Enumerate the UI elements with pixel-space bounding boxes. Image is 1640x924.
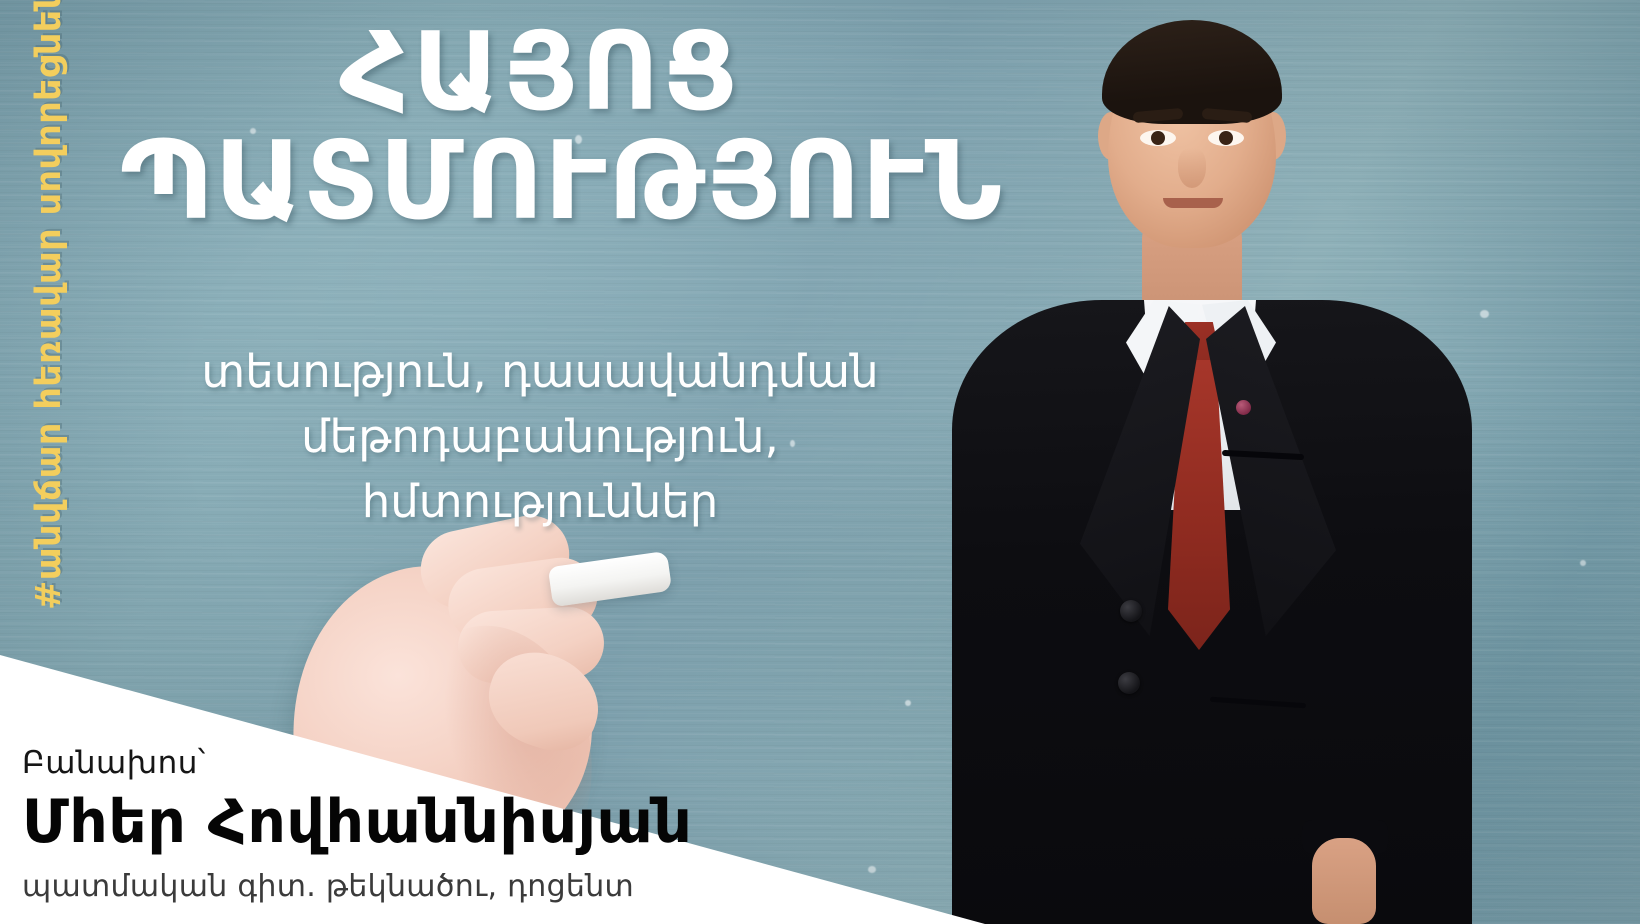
page-subtitle: տեսություն, դասավանդման մեթոդաբանություն… <box>120 340 960 534</box>
page-title-line-1: ՀԱՅՈՑ <box>120 22 960 125</box>
portrait-jacket-button <box>1120 600 1142 622</box>
vertical-hashtag-label: #անվճար հեռավար սովորեցնենք <box>29 10 69 610</box>
poster-canvas: #անվճար հեռավար սովորեցնենք ՀԱՅՈՑ ՊԱՏՄՈՒ… <box>0 0 1640 924</box>
page-title-line-2: ՊԱՏՄՈՒԹՅՈՒՆ <box>120 131 960 234</box>
speaker-role-label: Բանախոս՝ <box>22 745 782 781</box>
page-subtitle-line-2: մեթոդաբանություն, <box>120 405 960 470</box>
vertical-hashtag: #անվճար հեռավար սովորեցնենք <box>14 0 84 620</box>
page-title: ՀԱՅՈՑ ՊԱՏՄՈՒԹՅՈՒՆ <box>120 22 960 233</box>
speaker-portrait <box>930 0 1530 924</box>
portrait-jacket-button <box>1118 672 1140 694</box>
portrait-hand <box>1312 838 1376 924</box>
portrait-mouth <box>1163 198 1223 208</box>
portrait-hair <box>1102 20 1282 124</box>
speaker-name: Մհեր Հովհաննիսյան <box>22 791 782 855</box>
lapel-pin-icon <box>1236 400 1251 415</box>
portrait-nose <box>1178 148 1206 188</box>
portrait-eye-left <box>1140 130 1176 146</box>
page-subtitle-line-3: հմտություններ <box>120 470 960 535</box>
page-subtitle-line-1: տեսություն, դասավանդման <box>120 340 960 405</box>
speaker-credentials: պատմական գիտ. թեկնածու, դոցենտ <box>22 869 782 904</box>
speaker-banner-content: Բանախոս՝ Մհեր Հովհաննիսյան պատմական գիտ.… <box>22 745 782 904</box>
portrait-eye-right <box>1208 130 1244 146</box>
